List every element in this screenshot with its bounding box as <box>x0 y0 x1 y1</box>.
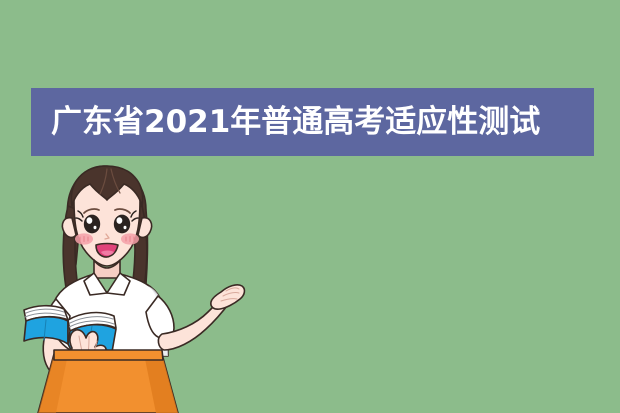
poster-canvas: 广东省2021年普通高考适应性测试 <box>0 0 620 413</box>
page-title: 广东省2021年普通高考适应性测试 <box>51 107 540 138</box>
blush-right <box>121 233 139 244</box>
skirt-waistband <box>54 350 163 360</box>
blush-left <box>75 233 93 244</box>
student-illustration <box>16 160 246 413</box>
title-banner: 广东省2021年普通高考适应性测试 <box>31 88 594 156</box>
hand-right <box>211 285 245 309</box>
